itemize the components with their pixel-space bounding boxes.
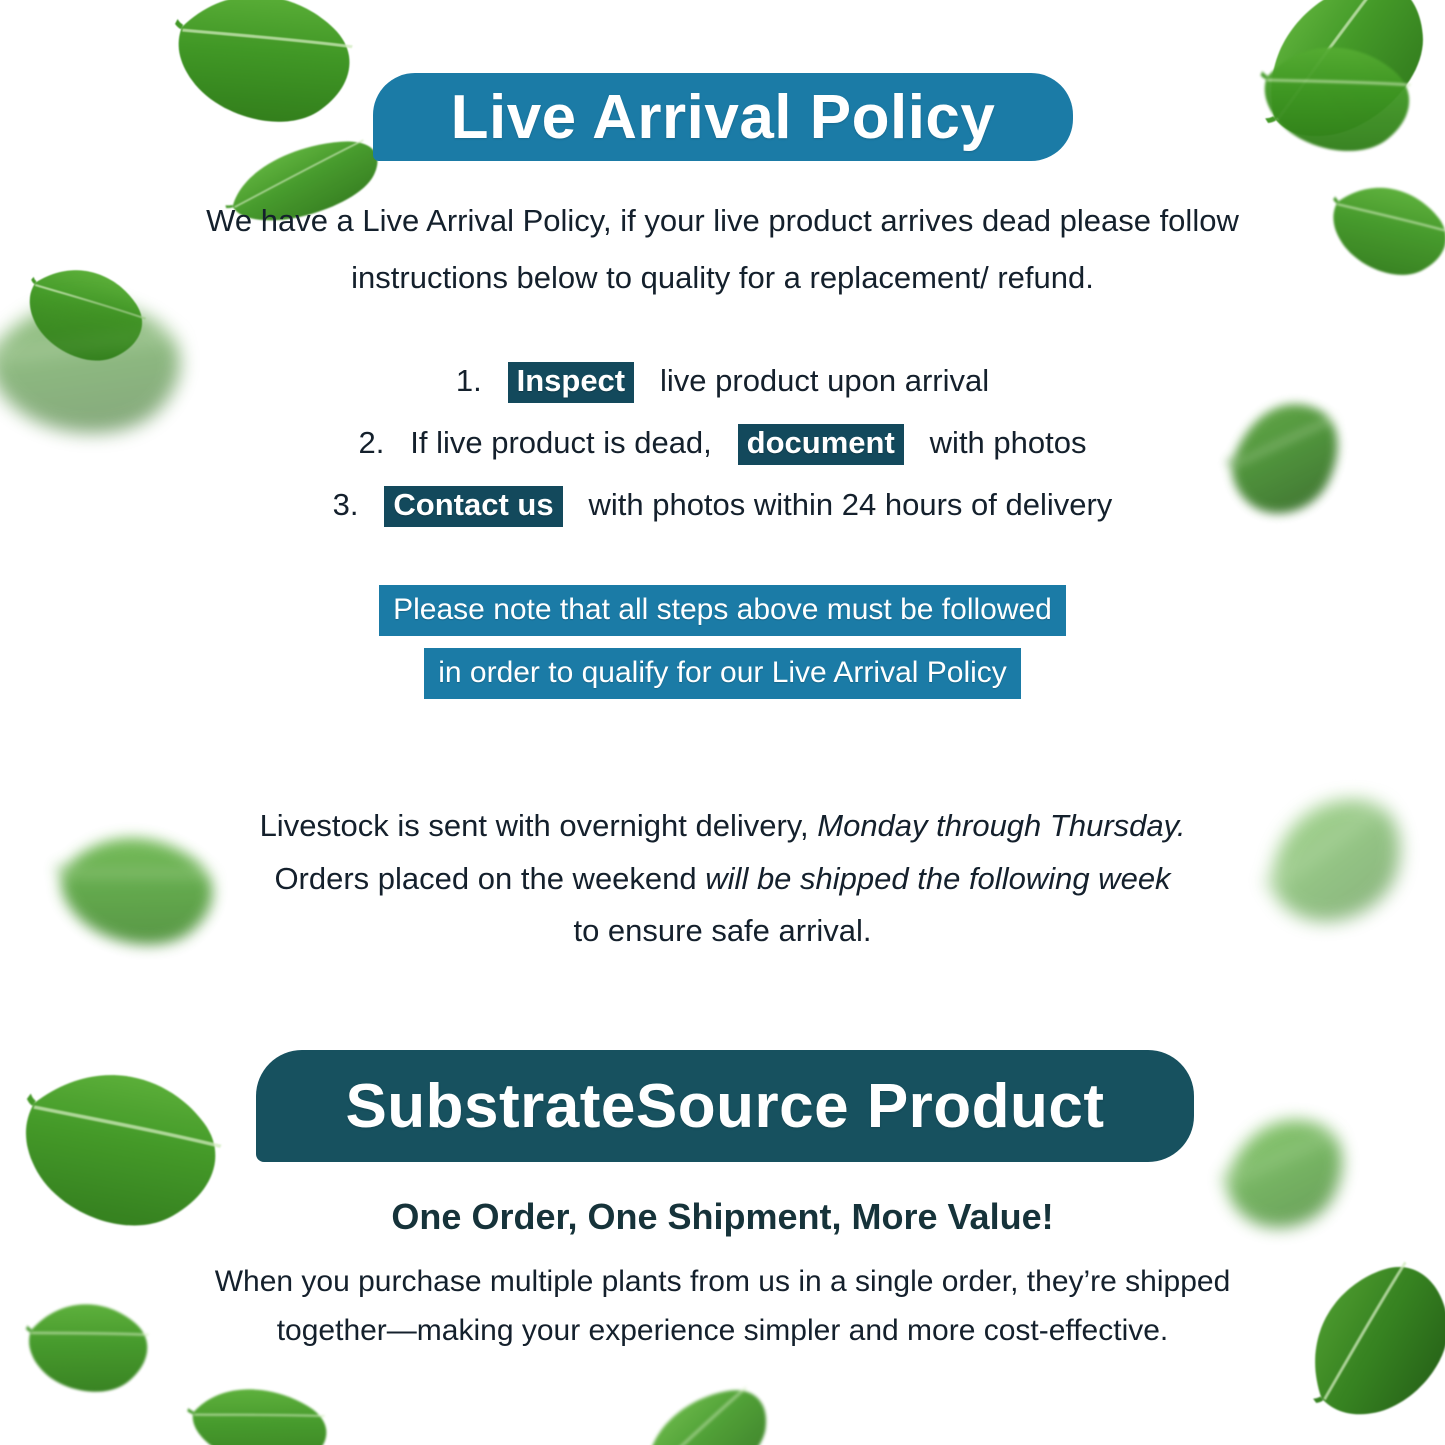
policy-infographic: Live Arrival Policy We have a Live Arriv… xyxy=(0,0,1445,1445)
leaf-icon xyxy=(1240,9,1437,187)
leaf-icon xyxy=(146,0,384,168)
policy-note-callout: Please note that all steps above must be… xyxy=(150,585,1295,711)
leaf-icon xyxy=(176,1361,346,1445)
bottom-copy-line-2: together—making your experience simpler … xyxy=(150,1307,1295,1356)
leaf-icon xyxy=(8,1272,170,1422)
bottom-description-paragraph: When you purchase multiple plants from u… xyxy=(150,1258,1295,1355)
intro-line-2: instructions below to quality for a repl… xyxy=(150,249,1295,306)
shipping-schedule-paragraph: Livestock is sent with overnight deliver… xyxy=(170,800,1275,958)
note-line-1: Please note that all steps above must be… xyxy=(379,585,1066,636)
shipping-line-1-text: Livestock is sent with overnight deliver… xyxy=(260,808,809,843)
policy-step-2: 2. If live product is dead, document wit… xyxy=(150,412,1295,474)
bottom-copy-line-1: When you purchase multiple plants from u… xyxy=(150,1258,1295,1307)
value-subheading: One Order, One Shipment, More Value! xyxy=(170,1196,1275,1238)
shipping-line-2-emphasis: will be shipped the following week xyxy=(705,861,1170,896)
policy-step-1: 1. Inspect live product upon arrival xyxy=(150,350,1295,412)
leaf-icon xyxy=(1221,0,1445,176)
note-line-2: in order to qualify for our Live Arrival… xyxy=(424,648,1021,699)
shipping-line-2-text: Orders placed on the weekend xyxy=(274,861,696,896)
shipping-line-1-emphasis: Monday through Thursday. xyxy=(817,808,1185,843)
intro-line-1: We have a Live Arrival Policy, if your l… xyxy=(150,192,1295,249)
leaf-icon xyxy=(1251,778,1423,942)
step-2-text: with photos xyxy=(930,425,1087,460)
leaf-icon xyxy=(619,1366,795,1445)
step-3-highlight-contact-us: Contact us xyxy=(384,486,562,527)
step-1-text: live product upon arrival xyxy=(660,363,989,398)
substratesource-product-title: SubstrateSource Product xyxy=(345,1071,1104,1142)
shipping-line-3: to ensure safe arrival. xyxy=(170,905,1275,958)
substratesource-product-banner: SubstrateSource Product xyxy=(256,1050,1194,1162)
intro-paragraph: We have a Live Arrival Policy, if your l… xyxy=(150,192,1295,307)
step-3-text: with photos within 24 hours of delivery xyxy=(588,487,1112,522)
live-arrival-policy-banner: Live Arrival Policy xyxy=(373,73,1073,161)
step-2-lead-text: If live product is dead, xyxy=(410,425,712,460)
shipping-line-1: Livestock is sent with overnight deliver… xyxy=(170,800,1275,853)
policy-step-3: 3. Contact us with photos within 24 hour… xyxy=(150,474,1295,536)
step-3-number: 3. xyxy=(333,487,359,522)
step-1-highlight-inspect: Inspect xyxy=(508,362,635,403)
live-arrival-policy-title: Live Arrival Policy xyxy=(451,82,996,153)
leaf-icon xyxy=(1309,152,1445,308)
step-2-highlight-document: document xyxy=(738,424,904,465)
leaf-icon xyxy=(0,1013,259,1282)
leaf-icon xyxy=(4,233,169,395)
step-2-number: 2. xyxy=(359,425,385,460)
step-1-number: 1. xyxy=(456,363,482,398)
shipping-line-2: Orders placed on the weekend will be shi… xyxy=(170,853,1275,906)
policy-steps-list: 1. Inspect live product upon arrival 2. … xyxy=(150,350,1295,536)
